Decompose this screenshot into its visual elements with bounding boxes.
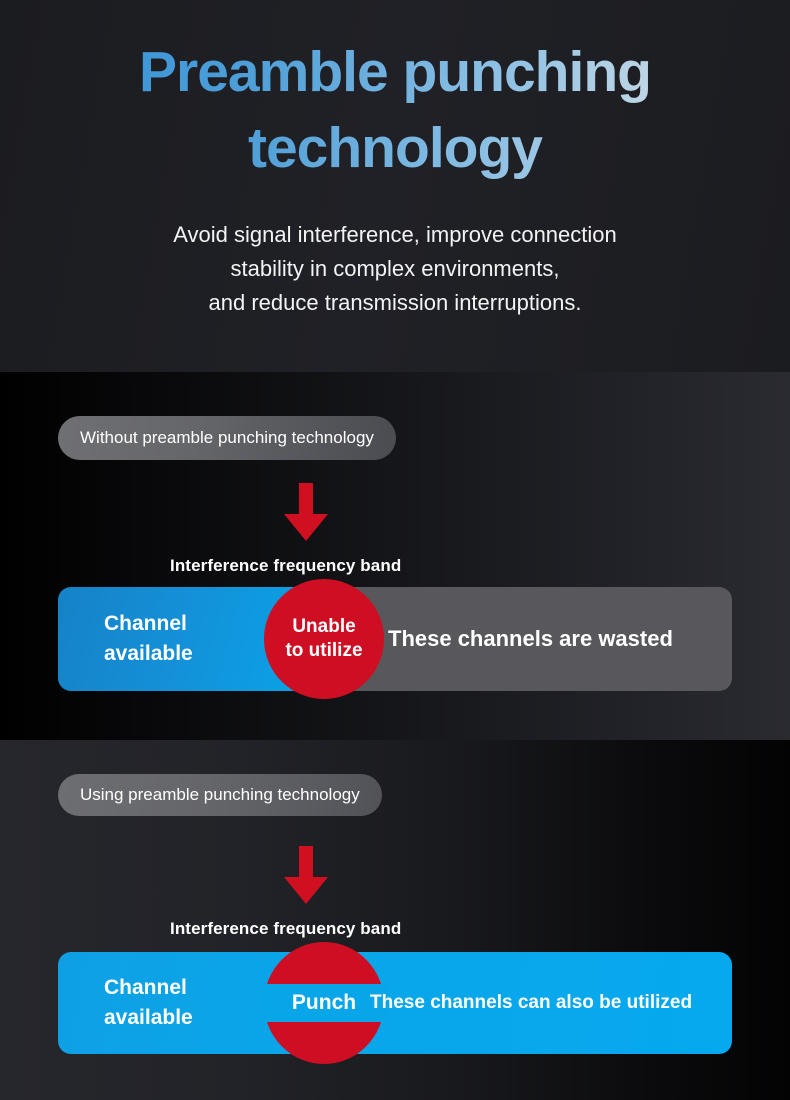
- punch-slot: Punch: [260, 984, 388, 1022]
- punch-label: Punch: [292, 991, 356, 1015]
- bar-label-channel-available: Channel available: [104, 609, 193, 669]
- page-subtitle: Avoid signal interference, improve conne…: [0, 218, 790, 320]
- pill-using-preamble-punching: Using preamble punching technology: [58, 774, 382, 816]
- arrow-down-icon: [278, 846, 334, 906]
- unable-to-utilize-circle: Unable to utilize: [264, 579, 384, 699]
- bar-label-channels-utilized: These channels can also be utilized: [370, 992, 692, 1014]
- page-title: Preamble punching technology: [0, 34, 790, 186]
- infographic-page: Preamble punching technology Avoid signa…: [0, 0, 790, 1100]
- header-section: Preamble punching technology Avoid signa…: [0, 0, 790, 372]
- bar-label-channel-available: Channel available: [104, 973, 193, 1033]
- bar-label-channels-wasted: These channels are wasted: [388, 626, 673, 652]
- channel-bar-using: Channel available Punch These channels c…: [58, 952, 732, 1054]
- arrow-down-icon: [278, 483, 334, 543]
- channel-bar-without: Channel available Unable to utilize Thes…: [58, 587, 732, 691]
- pill-without-preamble-punching: Without preamble punching technology: [58, 416, 396, 460]
- interference-band-label: Interference frequency band: [170, 919, 401, 939]
- pill-label: Without preamble punching technology: [80, 428, 374, 448]
- interference-band-label: Interference frequency band: [170, 556, 401, 576]
- pill-label: Using preamble punching technology: [80, 785, 360, 805]
- punch-circle: Punch: [264, 942, 384, 1064]
